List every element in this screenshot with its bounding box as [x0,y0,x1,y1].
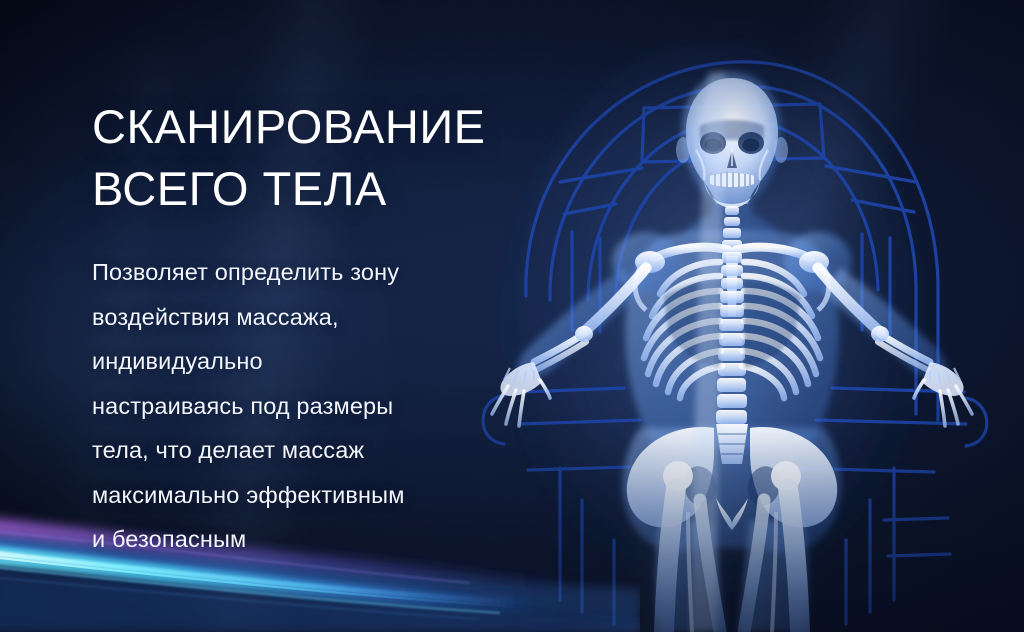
text-column: СКАНИРОВАНИЕ ВСЕГО ТЕЛА Позволяет опреде… [92,96,512,562]
banner-stage: СКАНИРОВАНИЕ ВСЕГО ТЕЛА Позволяет опреде… [0,0,1024,632]
page-title: СКАНИРОВАНИЕ ВСЕГО ТЕЛА [92,96,512,220]
description-text: Позволяет определить зону воздействия ма… [92,250,512,562]
